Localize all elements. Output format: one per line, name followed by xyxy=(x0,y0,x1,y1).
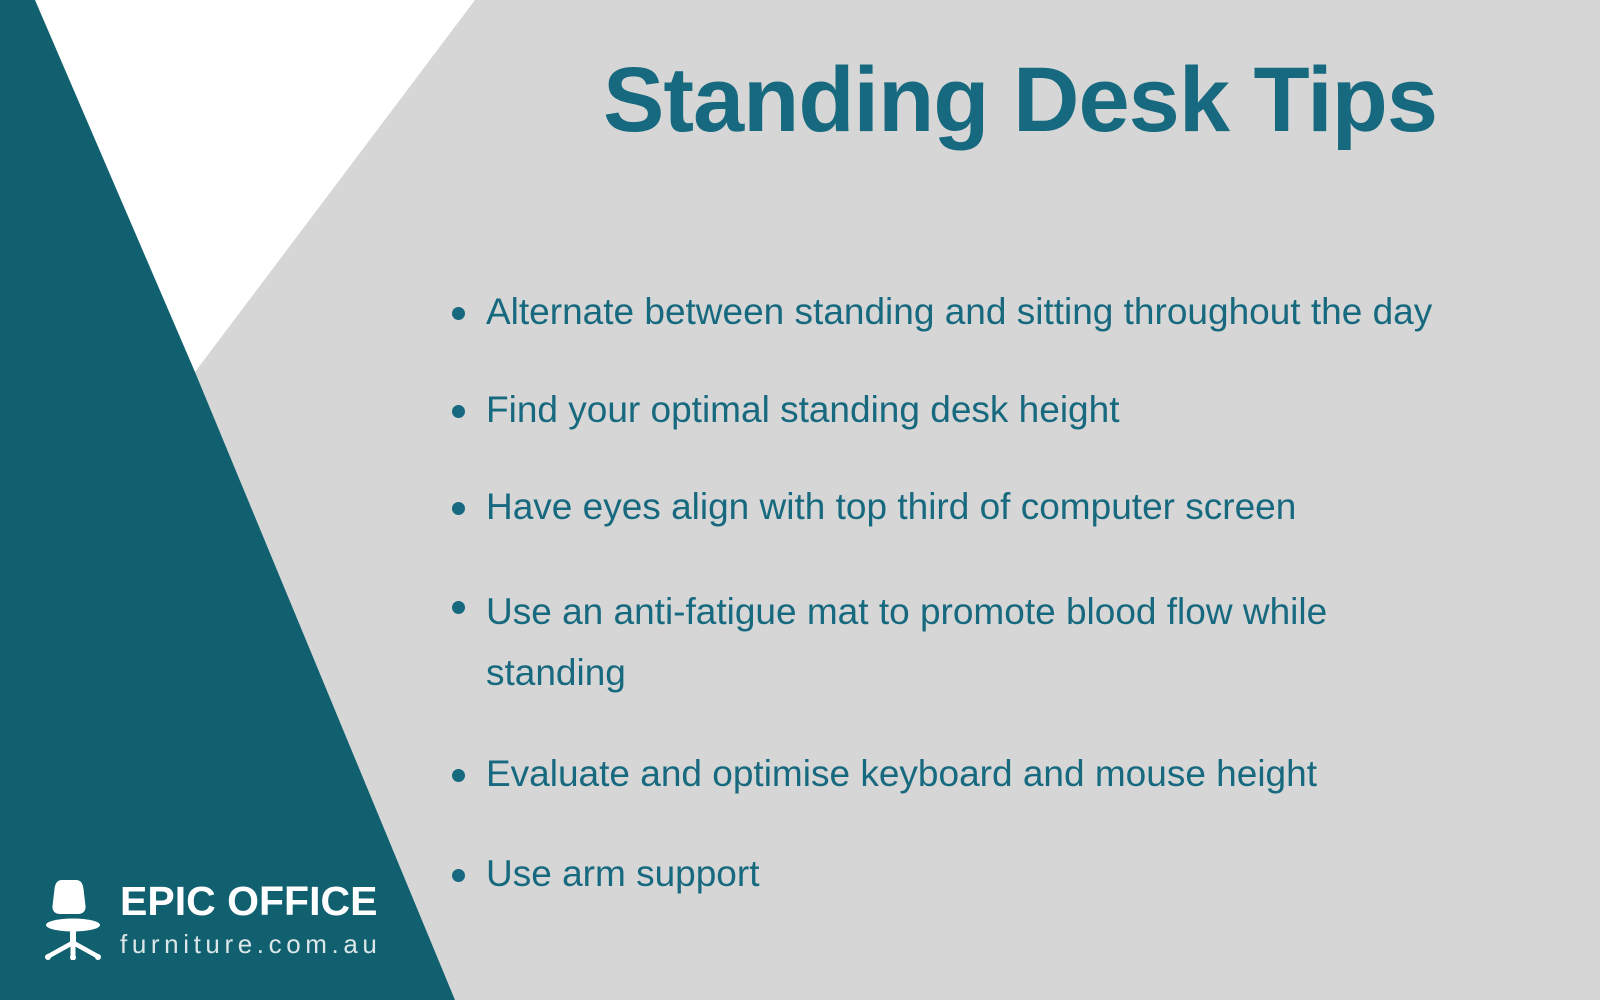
bullet-dot-icon xyxy=(452,502,465,515)
logo-wordmark: EPIC OFFICE furniture.com.au xyxy=(120,881,381,957)
list-item: Evaluate and optimise keyboard and mouse… xyxy=(452,750,1572,798)
list-item: Have eyes align with top third of comput… xyxy=(452,483,1572,531)
list-item-label: Find your optimal standing desk height xyxy=(486,386,1572,434)
list-item-label: Evaluate and optimise keyboard and mouse… xyxy=(486,750,1572,798)
brand-logo: EPIC OFFICE furniture.com.au xyxy=(44,878,381,960)
list-item-label: Have eyes align with top third of comput… xyxy=(486,483,1572,531)
slide-canvas: Standing Desk Tips Alternate between sta… xyxy=(0,0,1600,1000)
bullet-dot-icon xyxy=(452,405,465,418)
list-item-label: Use an anti-fatigue mat to promote blood… xyxy=(486,582,1422,703)
logo-company-name: EPIC OFFICE xyxy=(120,881,381,922)
list-item-label: Alternate between standing and sitting t… xyxy=(486,288,1572,336)
list-item: Use arm support xyxy=(452,850,1572,898)
bullet-dot-icon xyxy=(452,869,465,882)
bullet-dot-icon xyxy=(452,769,465,782)
page-title: Standing Desk Tips xyxy=(460,52,1580,149)
tips-list: Alternate between standing and sitting t… xyxy=(452,288,1572,898)
bullet-dot-icon xyxy=(452,307,465,320)
logo-domain: furniture.com.au xyxy=(120,931,381,957)
list-item: Use an anti-fatigue mat to promote blood… xyxy=(452,582,1572,703)
office-chair-icon xyxy=(44,878,106,960)
list-item: Alternate between standing and sitting t… xyxy=(452,288,1572,336)
list-item: Find your optimal standing desk height xyxy=(452,386,1572,434)
list-item-label: Use arm support xyxy=(486,850,1572,898)
bullet-dot-icon xyxy=(452,601,465,614)
